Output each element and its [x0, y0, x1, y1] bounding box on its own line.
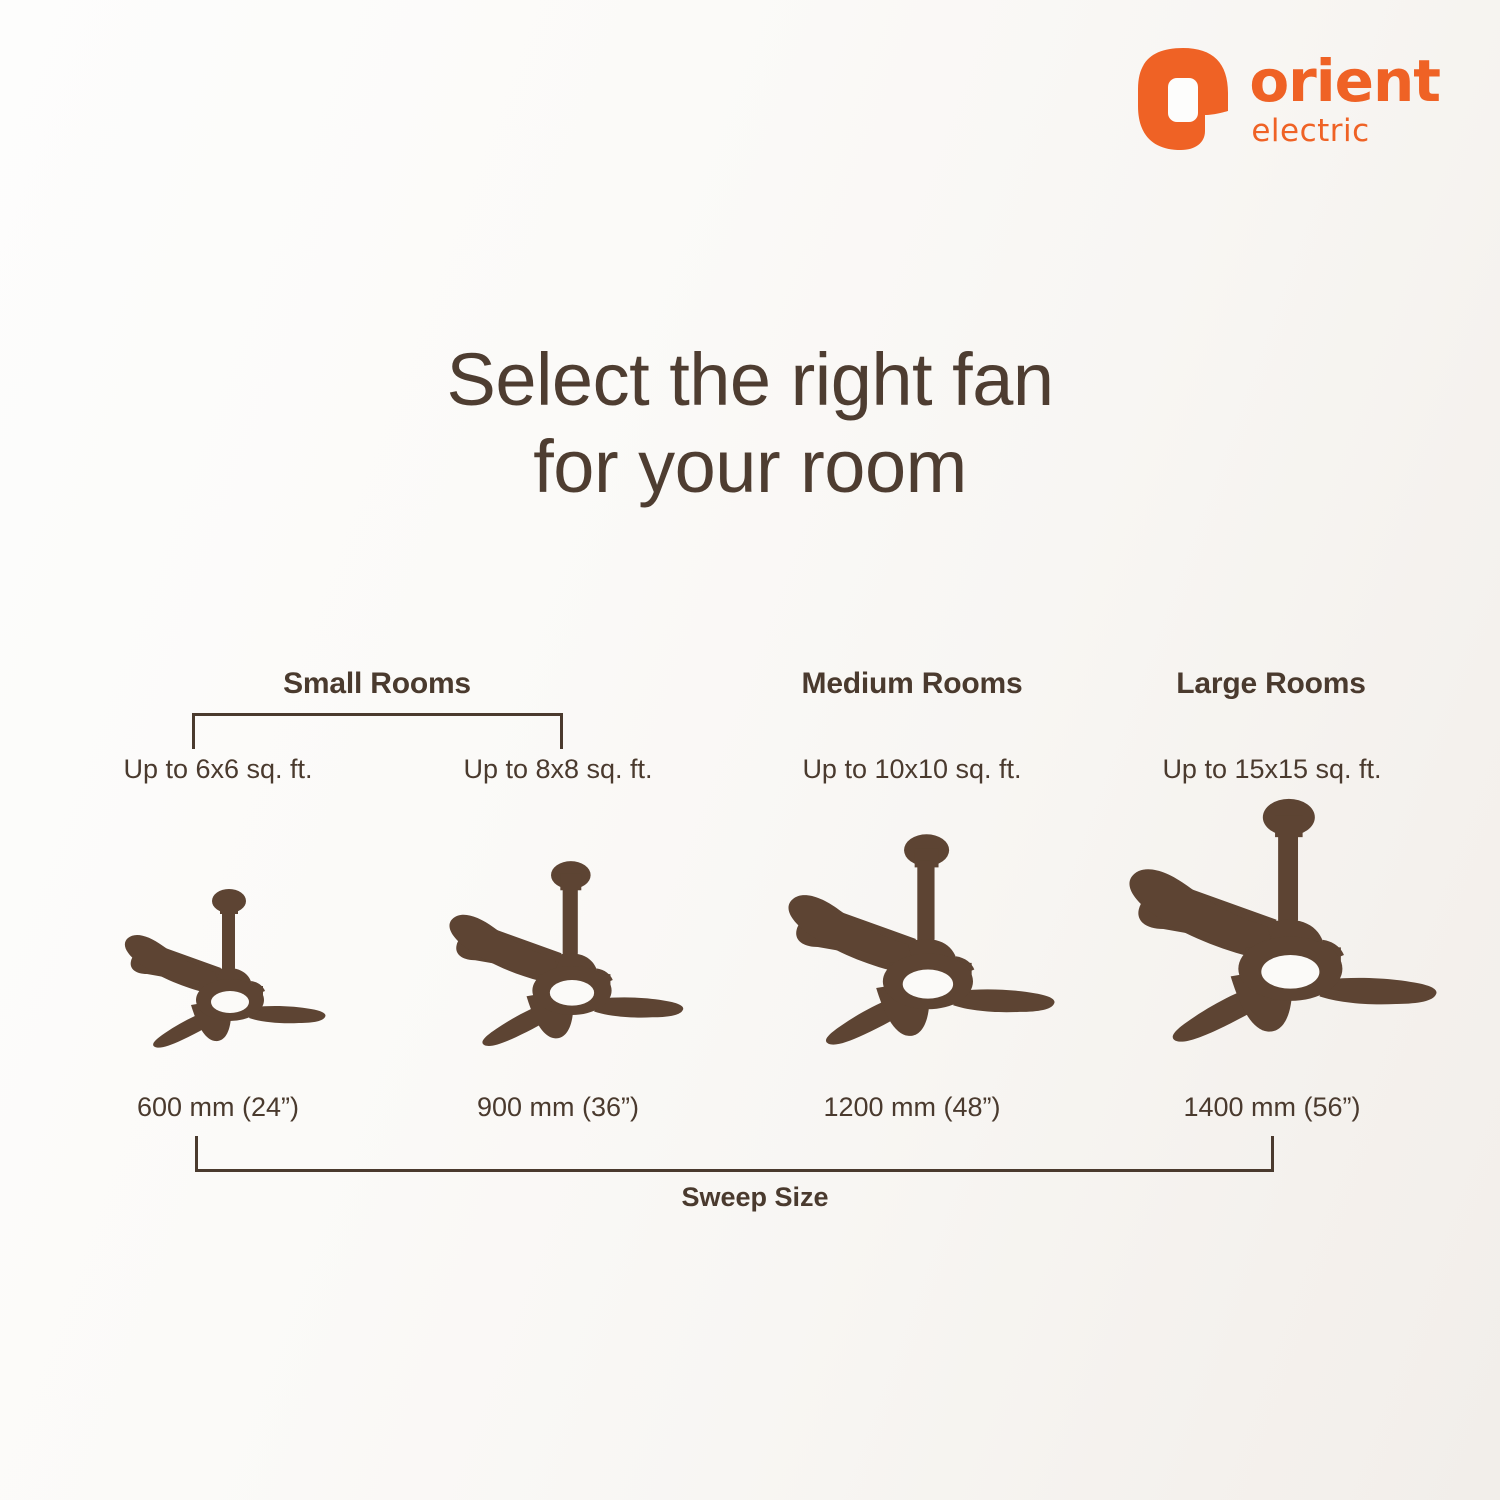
room-size-label-2: Up to 8x8 sq. ft. [463, 754, 652, 785]
small-rooms-grouping-bracket [192, 713, 563, 749]
sweep-size-value-3: 1200 mm (48”) [823, 1092, 1000, 1123]
sweep-size-value-2: 900 mm (36”) [477, 1092, 639, 1123]
ceiling-fan-illustration-1 [103, 876, 333, 1058]
sweep-size-caption: Sweep Size [681, 1182, 828, 1213]
ceiling-fan-illustration-4 [1096, 779, 1448, 1058]
sweep-size-value-4: 1400 mm (56”) [1183, 1092, 1360, 1123]
group-heading-3: Large Rooms [1176, 667, 1366, 701]
ceiling-fan-illustration-3 [760, 817, 1065, 1058]
room-size-label-3: Up to 10x10 sq. ft. [802, 754, 1021, 785]
sweep-size-bracket [195, 1136, 1274, 1172]
ceiling-fan-illustration-2 [424, 846, 692, 1058]
group-heading-1: Small Rooms [283, 667, 471, 701]
room-size-label-1: Up to 6x6 sq. ft. [123, 754, 312, 785]
sweep-size-value-1: 600 mm (24”) [137, 1092, 299, 1123]
fan-size-diagram: Small RoomsMedium RoomsLarge RoomsUp to … [0, 0, 1500, 1500]
group-heading-2: Medium Rooms [802, 667, 1023, 701]
